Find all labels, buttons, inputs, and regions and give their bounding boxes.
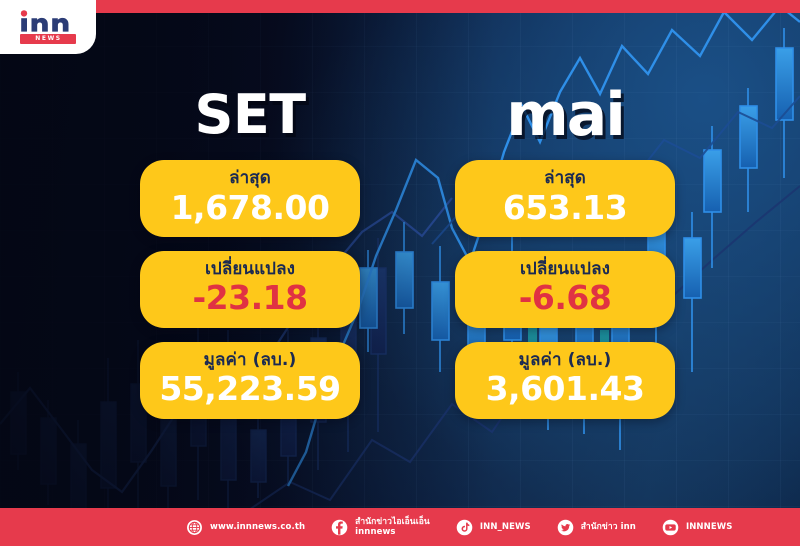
- set-change-value: -23.18: [192, 280, 307, 316]
- mai-card-change[interactable]: เปลี่ยนแปลง -6.68: [455, 251, 675, 328]
- footer-website-text: www.innnews.co.th: [210, 522, 305, 532]
- index-title-mai: mai: [455, 84, 675, 146]
- set-card-change[interactable]: เปลี่ยนแปลง -23.18: [140, 251, 360, 328]
- footer-facebook-line2: innnews: [355, 527, 430, 537]
- set-card-latest[interactable]: ล่าสุด 1,678.00: [140, 160, 360, 237]
- background-vignette: [0, 0, 800, 546]
- footer-item-website[interactable]: www.innnews.co.th: [186, 519, 305, 536]
- footer-item-twitter[interactable]: สำนักข่าว inn: [557, 519, 636, 536]
- index-column-mai: mai ล่าสุด 653.13 เปลี่ยนแปลง -6.68 มูลค…: [455, 84, 675, 419]
- footer-facebook-text: สำนักข่าวไอเอ็นเอ็น innnews: [355, 517, 430, 537]
- footer-youtube-text: INNNEWS: [686, 522, 733, 532]
- set-value-amount: 55,223.59: [159, 371, 340, 407]
- footer-item-tiktok[interactable]: INN_NEWS: [456, 519, 531, 536]
- footer-facebook-line1: สำนักข่าวไอเอ็นเอ็น: [355, 517, 430, 527]
- footer-item-youtube[interactable]: INNNEWS: [662, 519, 733, 536]
- logo-news-badge: NEWS: [20, 34, 75, 44]
- set-latest-label: ล่าสุด: [229, 169, 271, 189]
- mai-value-amount: 3,601.43: [486, 371, 645, 407]
- inn-news-logo: NEWS: [0, 0, 96, 54]
- youtube-icon: [662, 519, 679, 536]
- footer-social-bar: www.innnews.co.th สำนักข่าวไอเอ็นเอ็น in…: [0, 508, 800, 546]
- mai-latest-value: 653.13: [503, 190, 627, 226]
- set-value-label: มูลค่า (ลบ.): [204, 351, 297, 371]
- mai-card-value[interactable]: มูลค่า (ลบ.) 3,601.43: [455, 342, 675, 419]
- tiktok-icon: [456, 519, 473, 536]
- facebook-icon: [331, 519, 348, 536]
- inn-wordmark-icon: [19, 10, 77, 32]
- footer-twitter-text: สำนักข่าว inn: [581, 522, 636, 532]
- mai-change-value: -6.68: [519, 280, 612, 316]
- index-title-set: SET: [140, 84, 360, 146]
- footer-item-facebook[interactable]: สำนักข่าวไอเอ็นเอ็น innnews: [331, 517, 430, 537]
- footer-tiktok-text: INN_NEWS: [480, 522, 531, 532]
- twitter-icon: [557, 519, 574, 536]
- top-red-bar: [0, 0, 800, 13]
- index-column-set: SET ล่าสุด 1,678.00 เปลี่ยนแปลง -23.18 ม…: [140, 84, 360, 419]
- mai-card-latest[interactable]: ล่าสุด 653.13: [455, 160, 675, 237]
- set-latest-value: 1,678.00: [171, 190, 330, 226]
- set-card-value[interactable]: มูลค่า (ลบ.) 55,223.59: [140, 342, 360, 419]
- mai-latest-label: ล่าสุด: [544, 169, 586, 189]
- infographic-canvas: NEWS SET ล่าสุด 1,678.00 เปลี่ยนแปลง -23…: [0, 0, 800, 546]
- mai-change-label: เปลี่ยนแปลง: [520, 260, 610, 280]
- mai-value-label: มูลค่า (ลบ.): [519, 351, 612, 371]
- globe-icon: [186, 519, 203, 536]
- set-change-label: เปลี่ยนแปลง: [205, 260, 295, 280]
